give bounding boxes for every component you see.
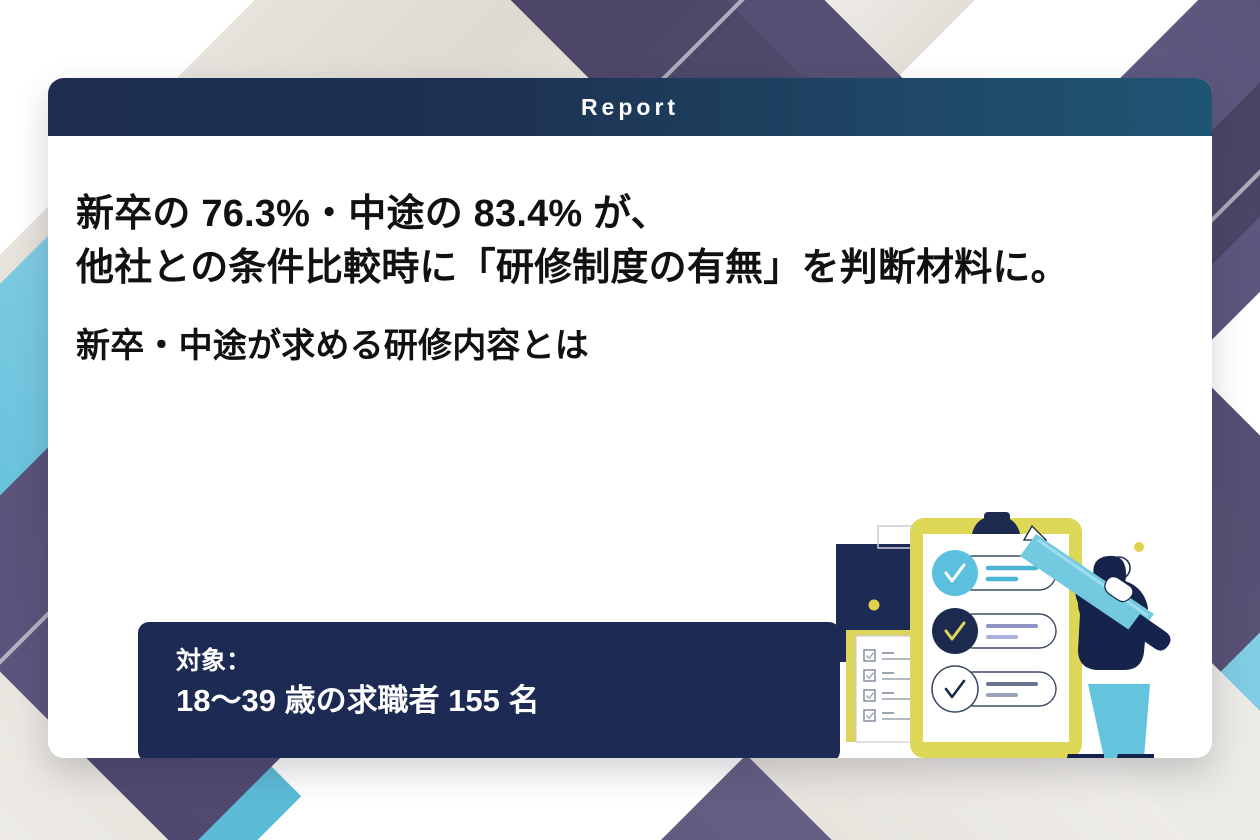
- page-title: Report: [581, 94, 679, 121]
- yellow-dot-board: [869, 600, 880, 611]
- target-value: 18〜39 歳の求職者 155 名: [176, 681, 840, 721]
- report-card: Report 新卒の 76.3%・中途の 83.4% が、 他社との条件比較時に…: [48, 78, 1212, 758]
- card-body: 新卒の 76.3%・中途の 83.4% が、 他社との条件比較時に「研修制度の有…: [48, 188, 1212, 758]
- card-header: Report: [48, 78, 1212, 136]
- person-shoe-left: [1067, 754, 1104, 758]
- checklist-illustration: [836, 504, 1206, 758]
- headline-line-2: 他社との条件比較時に「研修制度の有無」を判断材料に。: [76, 242, 1184, 296]
- check-circle-filled-navy: [932, 608, 978, 654]
- target-banner: 対象： 18〜39 歳の求職者 155 名: [138, 622, 840, 758]
- decor-yellow-dot: [1134, 542, 1144, 552]
- clipboard-clip-top: [984, 512, 1010, 522]
- headline-line-1: 新卒の 76.3%・中途の 83.4% が、: [76, 188, 1184, 242]
- person-shoe-right: [1117, 754, 1154, 758]
- target-label: 対象：: [176, 646, 840, 677]
- headline: 新卒の 76.3%・中途の 83.4% が、 他社との条件比較時に「研修制度の有…: [76, 188, 1184, 296]
- subheadline: 新卒・中途が求める研修内容とは: [76, 318, 1184, 367]
- check-circle-outline: [932, 666, 978, 712]
- check-circle-filled-cyan: [932, 550, 978, 596]
